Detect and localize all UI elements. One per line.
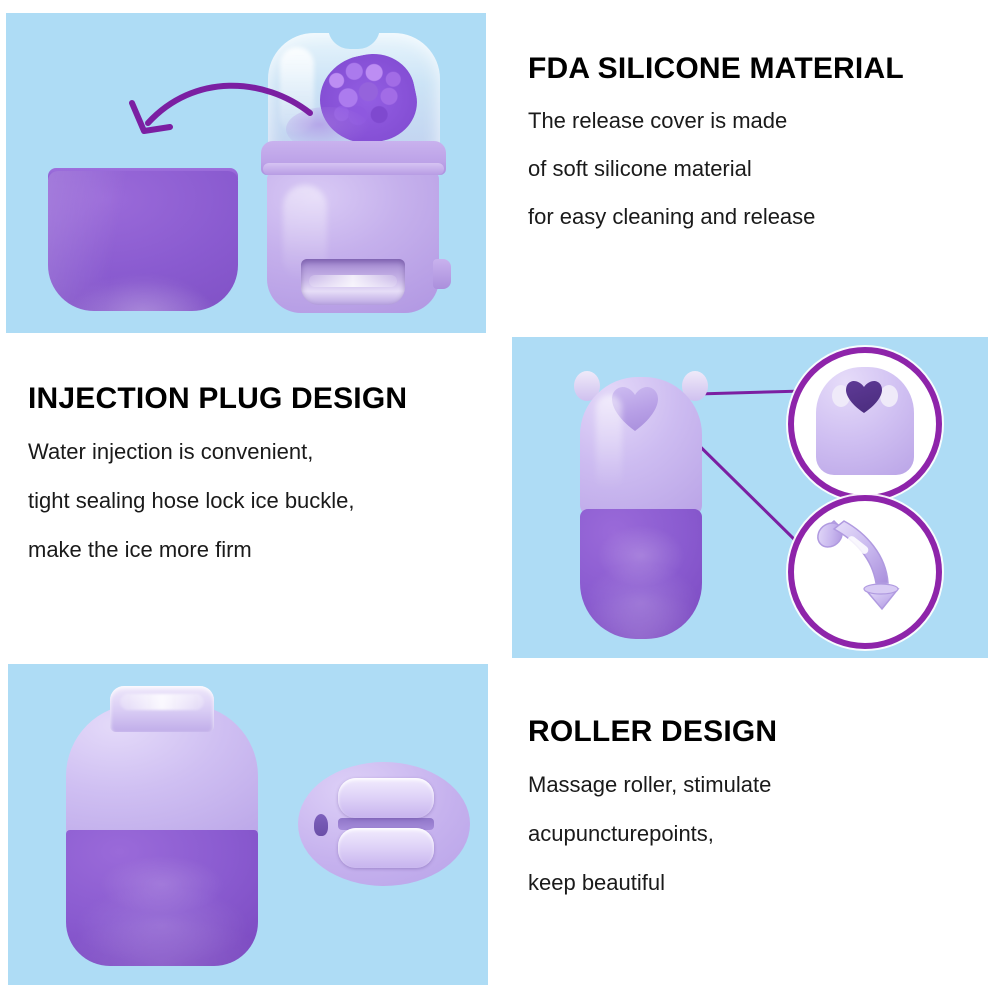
roller-line-2: acupuncturepoints, [528, 821, 988, 847]
injection-nozzle-icon [810, 515, 920, 627]
device-lower-shell [66, 830, 258, 966]
curved-removal-arrow-icon [114, 61, 314, 181]
roller-head-hole [314, 814, 328, 836]
panel-injection-plug-image [512, 337, 988, 658]
roller-lower-shell [580, 509, 702, 639]
heart-hole-callout [788, 347, 942, 501]
injection-line-3: make the ice more firm [28, 537, 498, 563]
text-block-injection-plug: INJECTION PLUG DESIGN Water injection is… [28, 382, 498, 563]
injection-plug-callout [788, 495, 942, 649]
heading-roller-design: ROLLER DESIGN [528, 715, 988, 749]
heading-fda-silicone: FDA SILICONE MATERIAL [528, 52, 988, 86]
massage-roller-top [338, 778, 434, 818]
silicone-cover [48, 171, 238, 311]
roller-side-tab [433, 259, 451, 289]
callout-roller-cap [816, 367, 914, 475]
heading-injection-plug: INJECTION PLUG DESIGN [28, 382, 498, 416]
ice-cube-notch [328, 27, 380, 49]
ice-roller-device [66, 686, 258, 966]
callout-ear-right [880, 385, 898, 407]
fda-line-3: for easy cleaning and release [528, 204, 988, 230]
fda-line-2: of soft silicone material [528, 156, 988, 182]
infographic-page: FDA SILICONE MATERIAL The release cover … [0, 0, 1000, 1000]
injection-line-2: tight sealing hose lock ice buckle, [28, 488, 498, 514]
roller-line-1: Massage roller, stimulate [528, 772, 988, 798]
text-block-roller-design: ROLLER DESIGN Massage roller, stimulate … [528, 715, 988, 896]
roller-line-3: keep beautiful [528, 870, 988, 896]
text-block-fda-silicone: FDA SILICONE MATERIAL The release cover … [528, 52, 988, 230]
fda-line-1: The release cover is made [528, 108, 988, 134]
panel-silicone-cover-image [6, 13, 486, 333]
massage-roller-bottom [338, 828, 434, 868]
device-lid [110, 686, 214, 732]
roller-highlight [596, 395, 622, 491]
twin-massage-roller-head [298, 762, 470, 886]
panel-roller-design-image [8, 664, 488, 985]
roller-wheel-slot [301, 259, 405, 305]
injection-line-1: Water injection is convenient, [28, 439, 498, 465]
roller-with-heart-plug [580, 359, 702, 639]
